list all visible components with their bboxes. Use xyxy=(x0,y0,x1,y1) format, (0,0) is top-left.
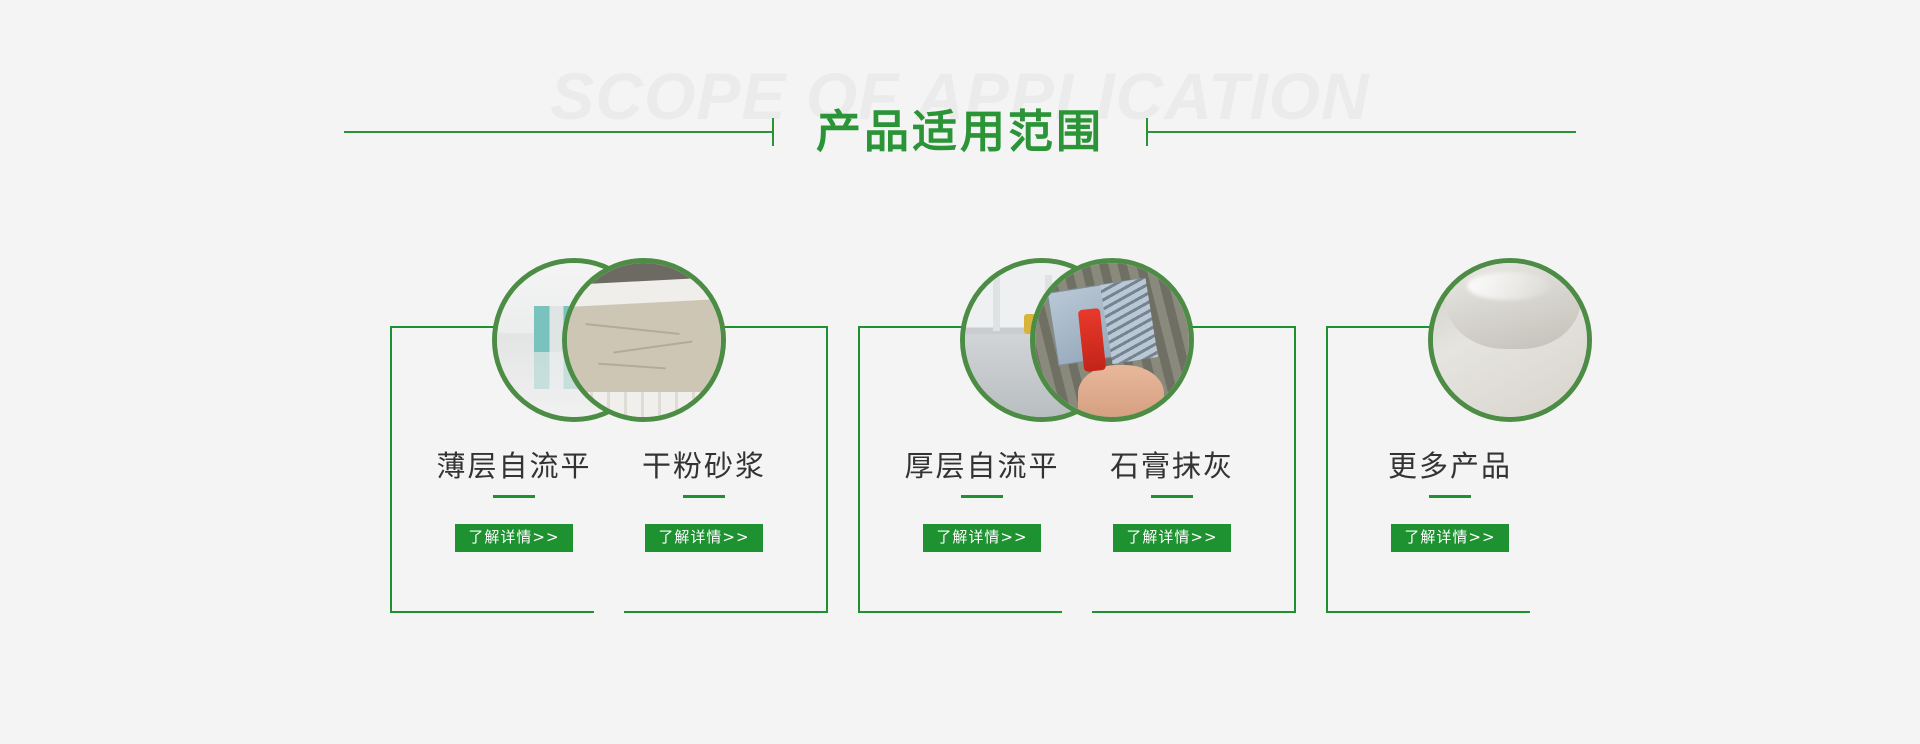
page-title: 产品适用范围 xyxy=(774,108,1146,155)
card-label: 更多产品 xyxy=(1348,443,1552,485)
more-products-photo xyxy=(1433,263,1587,417)
product-card-dry-powder-mortar[interactable]: 干粉砂浆 了解详情>> xyxy=(624,258,828,613)
card-body: 干粉砂浆 了解详情>> xyxy=(602,443,806,552)
learn-more-button[interactable]: 了解详情>> xyxy=(1113,524,1230,552)
dry-powder-mortar-photo xyxy=(567,263,721,417)
card-photo-circle xyxy=(1030,258,1194,422)
tick-mark-right-icon xyxy=(1146,118,1148,146)
title-row: 产品适用范围 xyxy=(0,108,1920,155)
title-rule-left xyxy=(344,131,774,133)
card-body: 厚层自流平 了解详情>> xyxy=(880,443,1084,552)
learn-more-button[interactable]: 了解详情>> xyxy=(645,524,762,552)
product-card-thin-layer-self-leveling[interactable]: 薄层自流平 了解详情>> xyxy=(390,258,594,613)
card-label-underline xyxy=(1151,495,1193,498)
tick-mark-left-icon xyxy=(772,118,774,146)
gypsum-plastering-trowel-photo xyxy=(1035,263,1189,417)
card-label-underline xyxy=(961,495,1003,498)
card-body: 更多产品 了解详情>> xyxy=(1348,443,1552,552)
product-card-list: 薄层自流平 了解详情>> 干粉砂浆 了解详情>> xyxy=(0,258,1920,613)
product-card-gypsum-plastering[interactable]: 石膏抹灰 了解详情>> xyxy=(1092,258,1296,613)
scope-of-application-section: SCOPE OF APPLICATION 产品适用范围 薄层自流平 xyxy=(0,0,1920,744)
product-card-more-products[interactable]: 更多产品 了解详情>> xyxy=(1326,258,1530,613)
card-label: 石膏抹灰 xyxy=(1070,443,1274,485)
card-label: 薄层自流平 xyxy=(412,443,616,485)
card-label-underline xyxy=(493,495,535,498)
card-label: 干粉砂浆 xyxy=(602,443,806,485)
product-card-thick-layer-self-leveling[interactable]: 厚层自流平 了解详情>> xyxy=(858,258,1062,613)
learn-more-button[interactable]: 了解详情>> xyxy=(1391,524,1508,552)
card-label-underline xyxy=(683,495,725,498)
card-label-underline xyxy=(1429,495,1471,498)
card-body: 石膏抹灰 了解详情>> xyxy=(1070,443,1274,552)
card-body: 薄层自流平 了解详情>> xyxy=(412,443,616,552)
card-photo-circle xyxy=(1428,258,1592,422)
learn-more-button[interactable]: 了解详情>> xyxy=(455,524,572,552)
card-label: 厚层自流平 xyxy=(880,443,1084,485)
card-photo-circle xyxy=(562,258,726,422)
section-header: SCOPE OF APPLICATION 产品适用范围 xyxy=(0,0,1920,210)
learn-more-button[interactable]: 了解详情>> xyxy=(923,524,1040,552)
title-rule-right xyxy=(1146,131,1576,133)
